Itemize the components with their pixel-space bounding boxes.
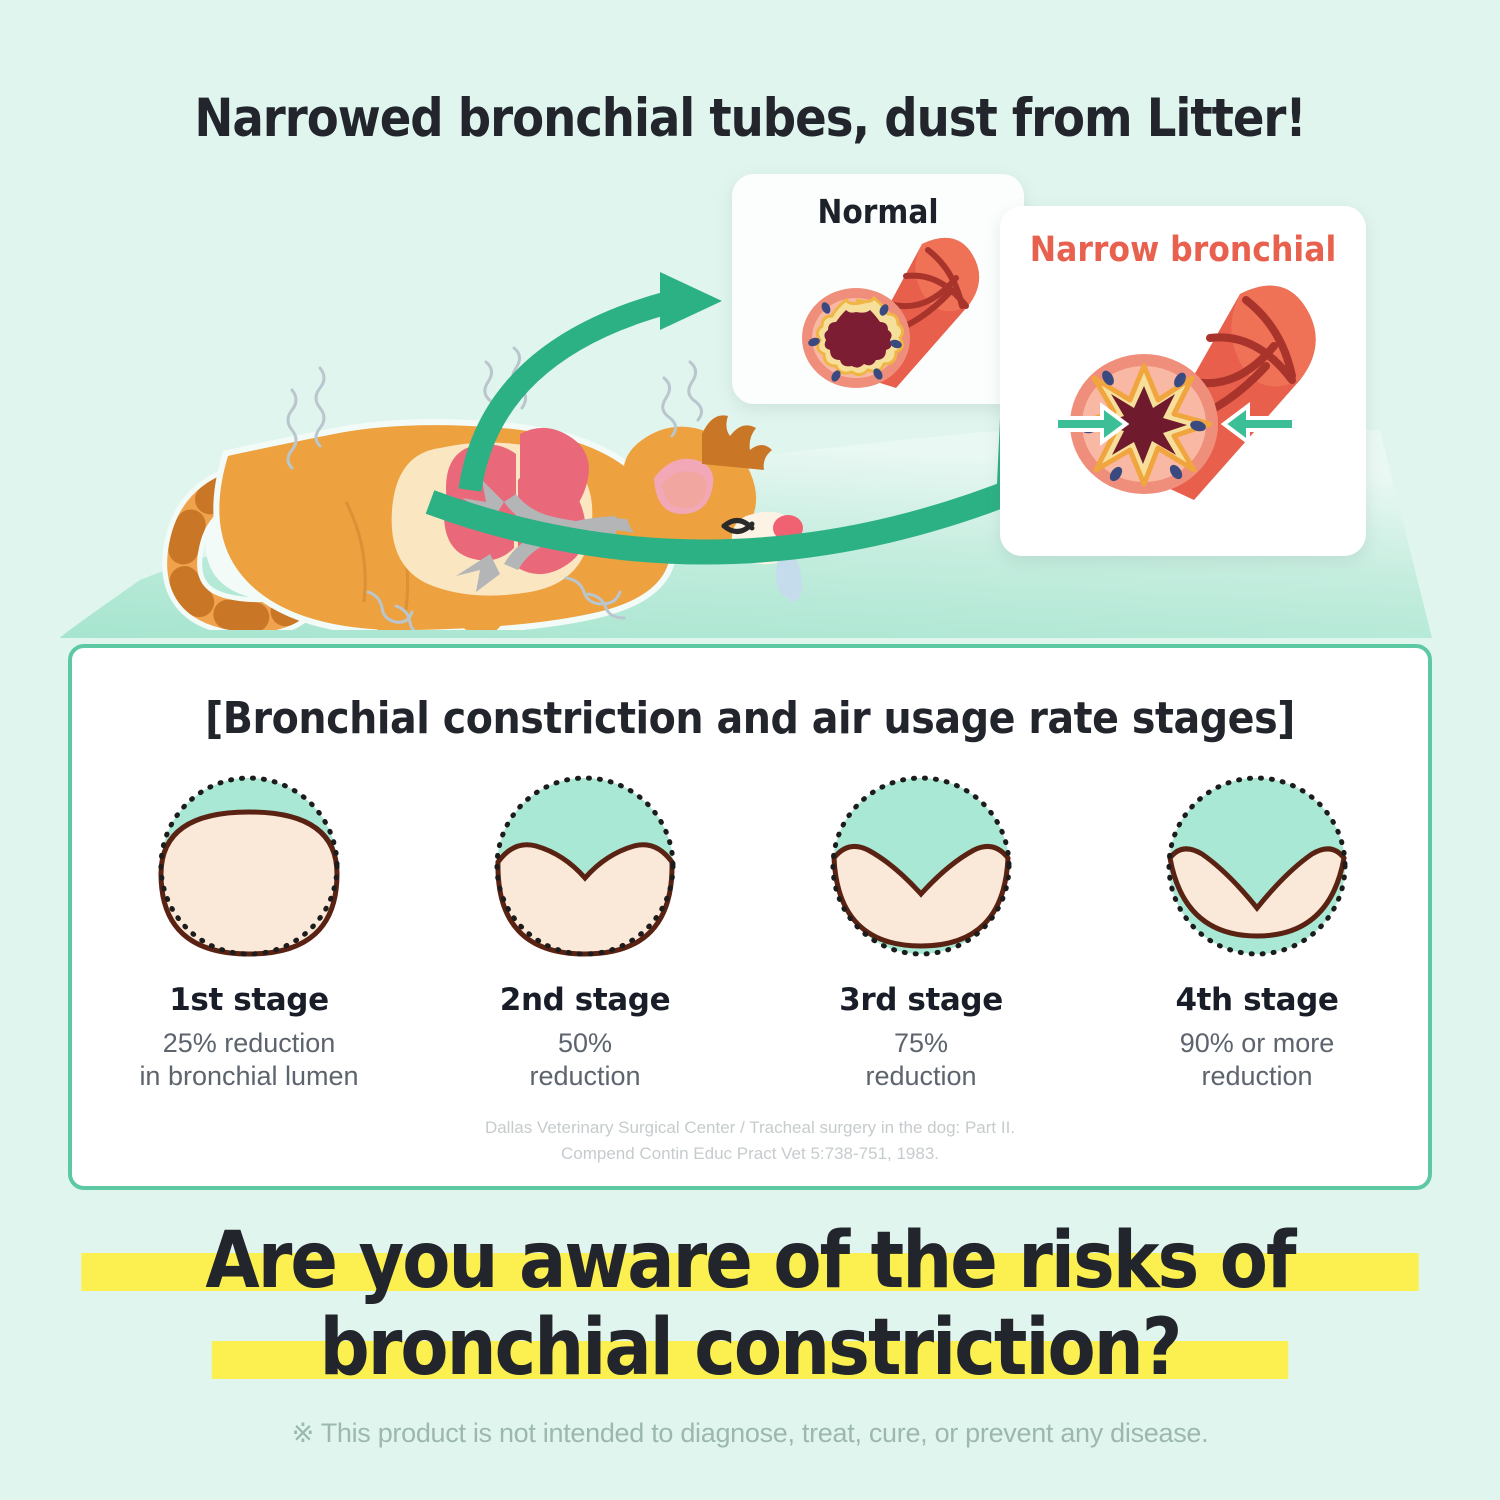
disclaimer-text: ※ This product is not intended to diagno… [0,1418,1500,1449]
headline-line-1: Are you aware of the risks of [75,1218,1425,1305]
stage-description: 50% reduction [529,1027,640,1092]
stage-title: 1st stage [169,982,328,1018]
lumen-stage-3-diagram [821,766,1021,966]
stages-row: 1st stage 25% reduction in bronchial lum… [94,766,1412,1092]
bottom-headline: Are you aware of the risks of bronchial … [0,1218,1500,1393]
curved-arrow-to-narrow-panel [430,418,1082,552]
panel-narrow-label: Narrow bronchial [1018,230,1347,270]
lumen-stage-1-diagram [149,766,349,966]
stage-item-1: 1st stage 25% reduction in bronchial lum… [94,766,404,1092]
headline-line-2: bronchial constriction? [75,1305,1425,1392]
stage-description: 90% or more reduction [1180,1027,1335,1092]
bronchial-tube-narrow-icon [1034,268,1334,528]
stage-description: 75% reduction [865,1027,976,1092]
panel-normal-bronchial: Normal [732,174,1024,404]
lumen-stage-4-diagram [1157,766,1357,966]
stage-item-4: 4th stage 90% or more reduction [1102,766,1412,1092]
stage-item-3: 3rd stage 75% reduction [766,766,1076,1092]
stages-heading: [Bronchial constriction and air usage ra… [140,693,1360,744]
citation: Dallas Veterinary Surgical Center / Trac… [72,1115,1428,1166]
lumen-stage-2-diagram [485,766,685,966]
stage-item-2: 2nd stage 50% reduction [430,766,740,1092]
stage-title: 3rd stage [839,982,1003,1018]
panel-narrow-bronchial: Narrow bronchial [1000,206,1366,556]
curved-arrow-to-normal-panel [470,272,722,490]
page-title: Narrowed bronchial tubes, dust from Litt… [90,88,1410,149]
stage-description: 25% reduction in bronchial lumen [139,1027,358,1092]
bronchial-tube-normal-icon [766,226,990,396]
stage-title: 2nd stage [500,982,670,1018]
stages-card: [Bronchial constriction and air usage ra… [68,644,1432,1190]
stage-title: 4th stage [1175,982,1338,1018]
